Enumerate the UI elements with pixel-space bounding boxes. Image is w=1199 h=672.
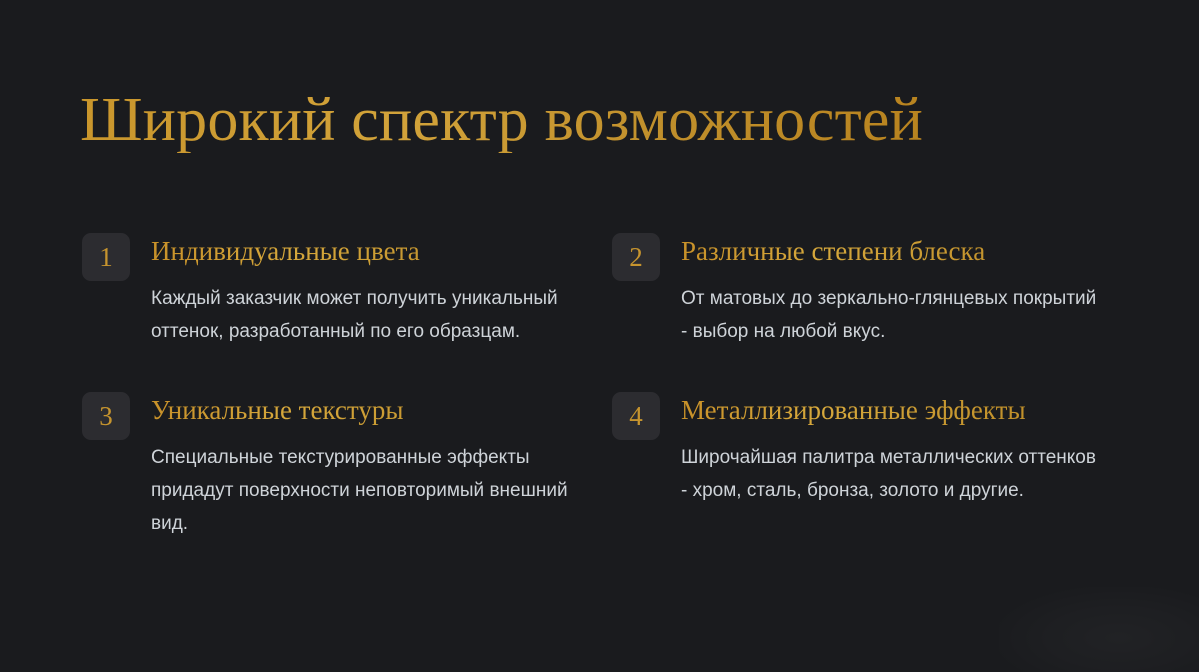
feature-item-4: 4 Металлизированные эффекты Широчайшая п… bbox=[612, 392, 1142, 540]
feature-body: Индивидуальные цвета Каждый заказчик мож… bbox=[151, 233, 612, 348]
slide-root: Широкий спектр возможностей 1 Индивидуал… bbox=[0, 0, 1199, 672]
page-title: Широкий спектр возможностей bbox=[80, 88, 923, 153]
feature-number-badge: 4 bbox=[612, 392, 660, 440]
feature-body: Различные степени блеска От матовых до з… bbox=[681, 233, 1142, 348]
feature-number-badge: 2 bbox=[612, 233, 660, 281]
feature-description: От матовых до зеркально-глянцевых покрыт… bbox=[681, 282, 1101, 348]
feature-description: Каждый заказчик может получить уникальны… bbox=[151, 282, 581, 348]
feature-item-1: 1 Индивидуальные цвета Каждый заказчик м… bbox=[82, 233, 612, 348]
feature-description: Широчайшая палитра металлических оттенко… bbox=[681, 441, 1101, 507]
feature-title: Металлизированные эффекты bbox=[681, 393, 1142, 427]
corner-glow-decoration bbox=[999, 587, 1199, 672]
features-grid: 1 Индивидуальные цвета Каждый заказчик м… bbox=[82, 233, 1142, 540]
feature-description: Специальные текстурированные эффекты при… bbox=[151, 441, 581, 540]
feature-title: Индивидуальные цвета bbox=[151, 234, 612, 268]
feature-title: Различные степени блеска bbox=[681, 234, 1142, 268]
feature-body: Уникальные текстуры Специальные текстури… bbox=[151, 392, 612, 540]
feature-item-3: 3 Уникальные текстуры Специальные тексту… bbox=[82, 392, 612, 540]
feature-number-badge: 3 bbox=[82, 392, 130, 440]
feature-body: Металлизированные эффекты Широчайшая пал… bbox=[681, 392, 1142, 507]
feature-item-2: 2 Различные степени блеска От матовых до… bbox=[612, 233, 1142, 348]
feature-title: Уникальные текстуры bbox=[151, 393, 612, 427]
feature-number-badge: 1 bbox=[82, 233, 130, 281]
